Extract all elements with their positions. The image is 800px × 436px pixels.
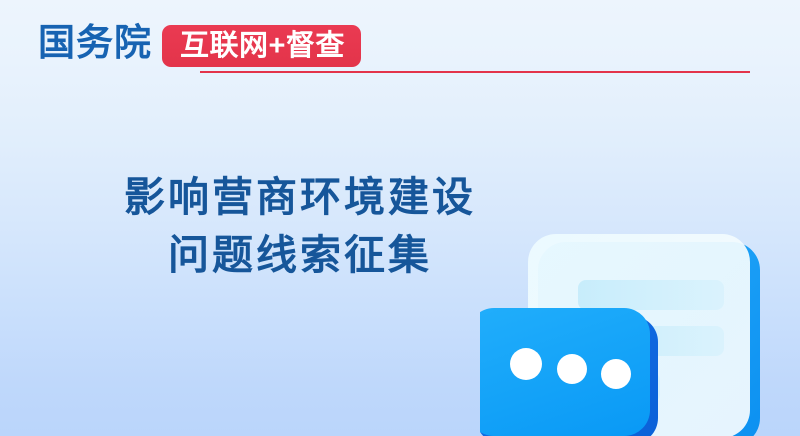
message-line-1	[578, 280, 724, 310]
banner-header: 国务院 互联网+督查	[0, 0, 800, 100]
gov-logo-text: 国务院	[38, 23, 152, 63]
promo-banner: 国务院 互联网+督查 影响营商环境建设 问题线索征集	[0, 0, 800, 436]
small-chat-bubble	[480, 308, 658, 436]
typing-dot-3	[601, 359, 631, 389]
header-divider-rule	[200, 71, 750, 73]
campaign-badge-label: 互联网+督查	[180, 31, 345, 61]
typing-dot-1	[510, 348, 542, 380]
campaign-badge: 互联网+督查	[162, 25, 361, 67]
typing-dot-2	[557, 354, 587, 384]
chat-bubbles-illustration	[480, 208, 800, 436]
